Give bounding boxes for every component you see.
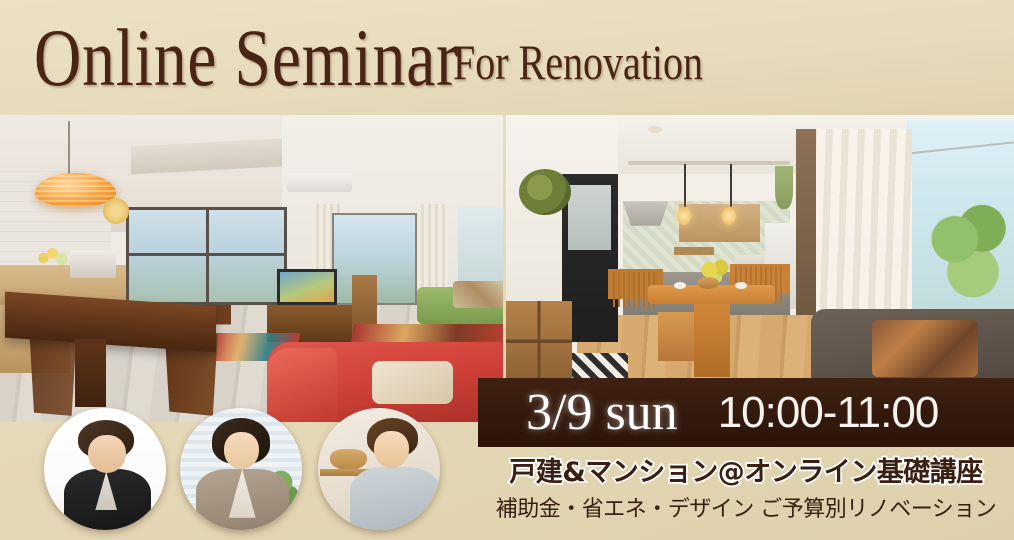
page-subtitle: For Renovation: [453, 37, 703, 87]
living-room-photo: [0, 115, 503, 422]
date-time-banner: 3/9 sun 10:00-11:00: [478, 378, 1014, 447]
photo-strip: [0, 115, 1014, 422]
seminar-topics: 補助金・省エネ・デザイン ご予算別リノベーション: [478, 498, 1014, 522]
avatar: [318, 408, 440, 530]
avatar: [180, 408, 302, 530]
avatar: [44, 408, 166, 530]
kitchen-dining-photo: [506, 115, 1014, 385]
seminar-time: 10:00-11:00: [718, 391, 939, 435]
seminar-date: 3/9 sun: [526, 387, 678, 439]
seminar-course-title: 戸建&マンション@オンライン基礎講座: [478, 458, 1014, 488]
seminar-poster: Online Seminar For Renovation: [0, 0, 1014, 540]
poster-header: Online Seminar For Renovation: [0, 0, 1014, 115]
page-title: Online Seminar: [34, 20, 459, 95]
